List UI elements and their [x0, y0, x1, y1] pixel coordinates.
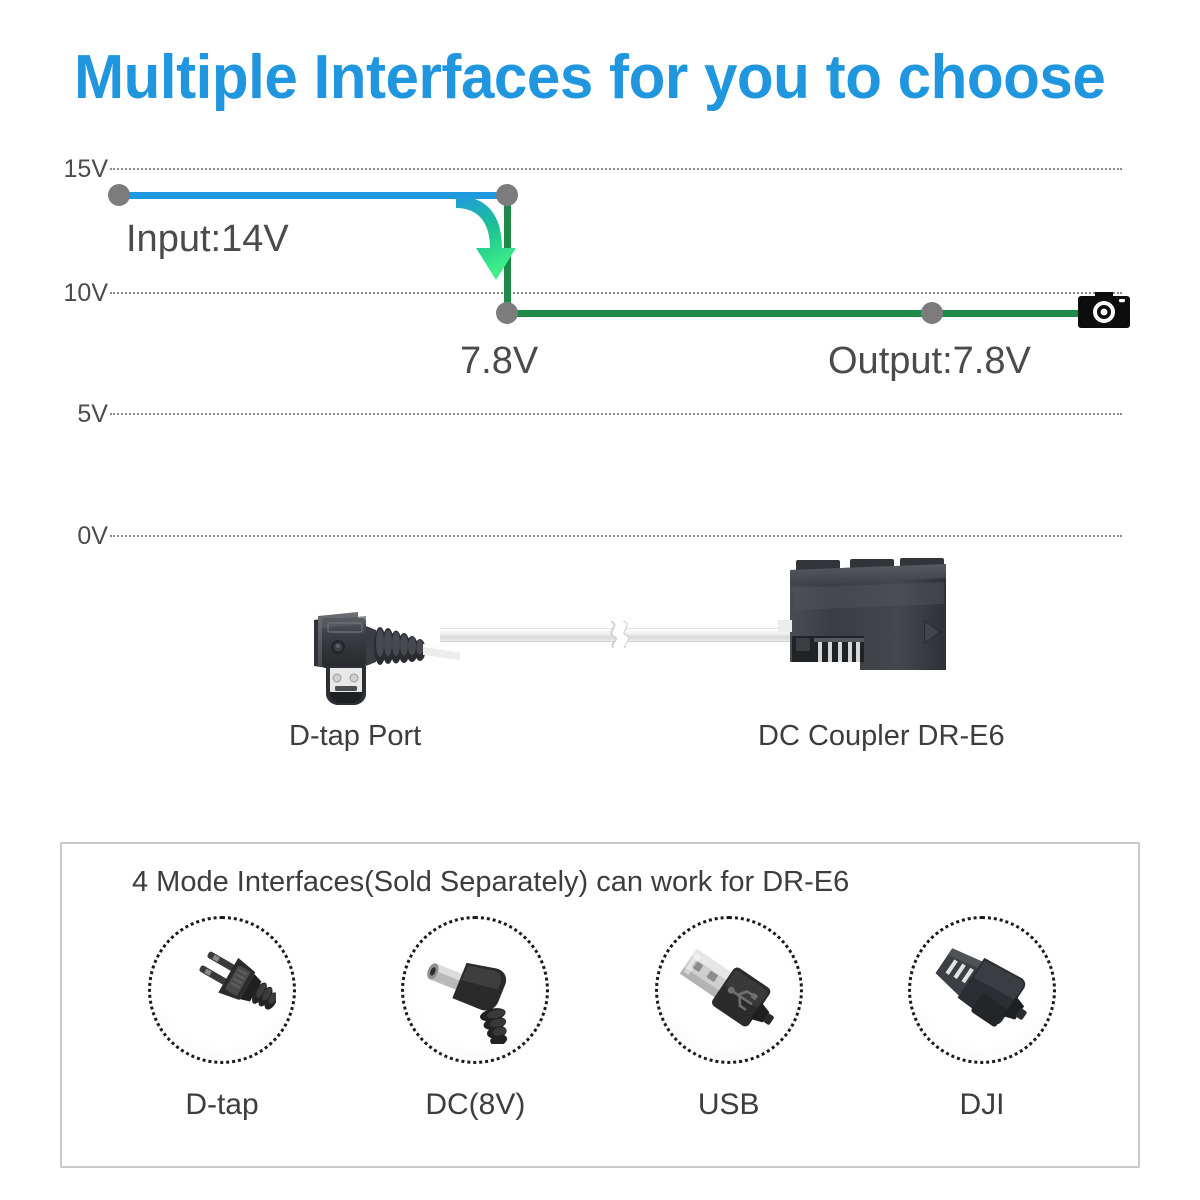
gridline-rule	[110, 292, 1122, 294]
interfaces-panel: 4 Mode Interfaces(Sold Separately) can w…	[60, 842, 1140, 1168]
dji-battery-plug-icon	[928, 936, 1036, 1044]
interface-label: D-tap	[185, 1088, 258, 1122]
drop-end-node-marker	[496, 302, 518, 324]
interface-label: USB	[698, 1088, 760, 1122]
ac-plug-icon	[168, 936, 276, 1044]
dc-coupler-battery-icon	[778, 558, 1008, 708]
interface-icon-circle	[401, 916, 549, 1064]
gridline-label-5v: 5V	[18, 400, 108, 429]
output-voltage-label: Output:7.8V	[828, 340, 1031, 383]
usb-plug-icon	[675, 936, 783, 1044]
product-illustration: D-tap Port DC Coupler DR-E6	[0, 540, 1200, 820]
output-line-segment	[504, 310, 1107, 317]
gridline-rule	[110, 535, 1122, 537]
interfaces-panel-heading: 4 Mode Interfaces(Sold Separately) can w…	[132, 866, 849, 899]
interface-icon-circle	[148, 916, 296, 1064]
interface-label: DJI	[959, 1088, 1004, 1122]
interface-icon-circle	[655, 916, 803, 1064]
dc-coupler-label: DC Coupler DR-E6	[758, 720, 1005, 753]
gridline-rule	[110, 168, 1122, 170]
d-tap-connector-icon	[310, 610, 460, 720]
input-voltage-label: Input:14V	[126, 218, 289, 261]
input-node-marker	[108, 184, 130, 206]
interface-label: DC(8V)	[425, 1088, 525, 1122]
camera-icon	[1078, 287, 1130, 331]
interface-item-dc-8v[interactable]: DC(8V)	[375, 916, 575, 1122]
gridline-rule	[110, 413, 1122, 415]
gridline-label-10v: 10V	[18, 279, 108, 308]
gridline-label-15v: 15V	[18, 155, 108, 184]
output-node-marker	[921, 302, 943, 324]
interface-item-d-tap[interactable]: D-tap	[122, 916, 322, 1122]
interface-item-dji[interactable]: DJI	[882, 916, 1082, 1122]
interface-item-usb[interactable]: USB	[629, 916, 829, 1122]
d-tap-port-label: D-tap Port	[289, 720, 421, 753]
cable-break-icon	[600, 618, 640, 650]
interface-icon-circle	[908, 916, 1056, 1064]
dc-barrel-plug-icon	[421, 936, 529, 1044]
drop-start-node-marker	[496, 184, 518, 206]
drop-voltage-label: 7.8V	[460, 340, 538, 383]
voltage-chart: 15V 10V 5V 0V Input:14V 7.8V Output:7.8V	[0, 140, 1200, 560]
page-title: Multiple Interfaces for you to choose	[74, 47, 1102, 109]
interfaces-list: D-tap	[122, 916, 1082, 1122]
